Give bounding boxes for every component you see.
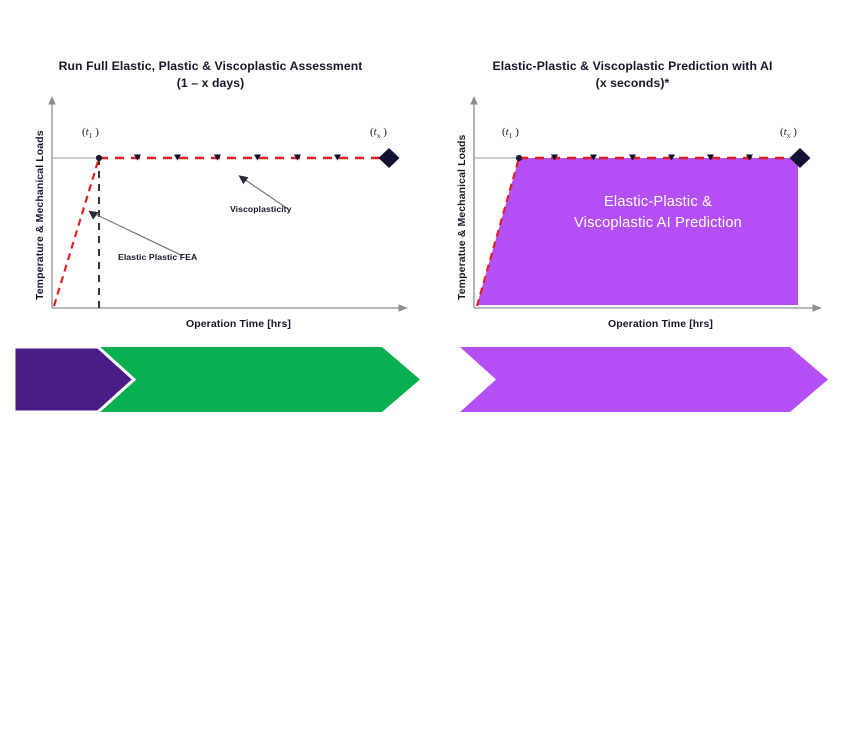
- left-panel-title: Run Full Elastic, Plastic & Viscoplastic…: [12, 58, 409, 92]
- left-elastic-plastic-callout-arrow: [89, 211, 184, 256]
- right-t1-point-marker: [516, 155, 522, 161]
- banner-viscoplastic-ai-label: Viscoplastic AI [minutes]: [478, 707, 798, 729]
- annotation-viscoplasticity: Viscoplasticity: [230, 204, 292, 214]
- left-t1-tick-label: (t1 ): [82, 126, 99, 140]
- annotation-elastic-plastic-fea: Elastic Plastic FEA: [118, 252, 197, 262]
- left-x-axis-label: Operation Time [hrs]: [0, 318, 421, 330]
- left-t1-point-marker: [96, 155, 102, 161]
- left-plot-area: (t1 ) (tx ) Viscoplasticity Elastic Plas…: [0, 96, 421, 336]
- right-x-axis-arrow: [813, 304, 823, 311]
- right-tx-tick-label: (tx ): [780, 126, 797, 140]
- timeline-banner-row: Elastic Plastic FEA [~1hour] Viscoplasti…: [0, 344, 843, 416]
- left-tx-diamond-marker: [379, 148, 400, 168]
- banner-viscoplastic-ai-arrow[interactable]: [460, 347, 828, 412]
- left-tx-tick-label: (tx ): [370, 126, 387, 140]
- right-t1-tick-label: (t1 ): [502, 126, 519, 140]
- banner-elastic-plastic-fea-label: Elastic Plastic FEA [~1hour]: [20, 699, 122, 728]
- banner-shapes-svg: [0, 344, 843, 416]
- right-t1-subscript: 1: [509, 131, 513, 140]
- left-title-line2: (1 – x days): [12, 75, 409, 92]
- right-title-line2: (x seconds)*: [434, 75, 831, 92]
- left-x-axis-arrow: [399, 304, 409, 311]
- banner-viscoplastic-fea-label: Viscoplastic FEA [days]: [140, 707, 380, 729]
- left-title-line1: Run Full Elastic, Plastic & Viscoplastic…: [59, 59, 363, 73]
- right-tx-subscript: x: [787, 131, 791, 140]
- left-t1-subscript: 1: [89, 131, 93, 140]
- left-tx-subscript: x: [377, 131, 381, 140]
- right-plot-area: (t1 ) (tx ) Elastic-Plastic & Viscoplast…: [422, 96, 843, 336]
- right-title-line1: Elastic-Plastic & Viscoplastic Predictio…: [493, 59, 773, 73]
- figure-canvas: Run Full Elastic, Plastic & Viscoplastic…: [0, 0, 843, 474]
- ai-prediction-region-label: Elastic-Plastic & Viscoplastic AI Predic…: [518, 192, 798, 234]
- left-elastic-plastic-ramp: [54, 158, 99, 306]
- right-x-axis-label: Operation Time [hrs]: [422, 318, 843, 330]
- left-chart-svg: [0, 96, 421, 336]
- right-panel-title: Elastic-Plastic & Viscoplastic Predictio…: [434, 58, 831, 92]
- right-y-axis-arrow: [470, 96, 478, 105]
- banner-viscoplastic-fea-arrow[interactable]: [92, 347, 420, 412]
- left-y-axis-arrow: [48, 96, 56, 105]
